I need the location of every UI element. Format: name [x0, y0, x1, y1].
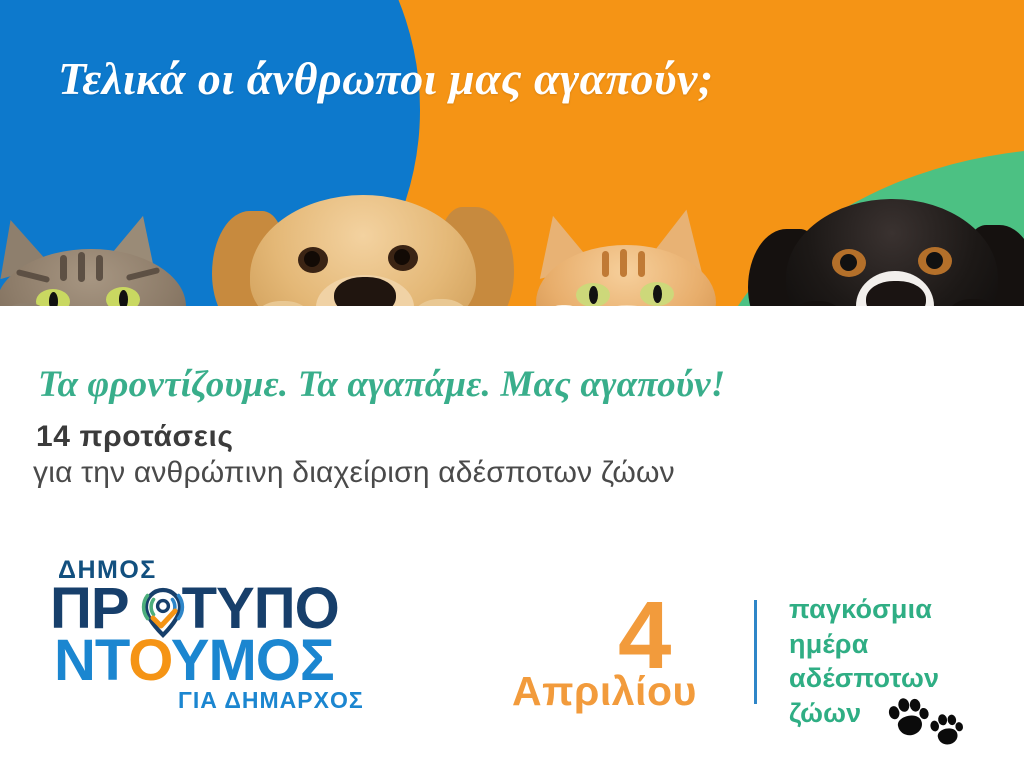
dog-pupil-left — [304, 251, 320, 267]
vertical-divider — [754, 600, 757, 704]
bwdog-pupil-right — [926, 252, 943, 269]
ginger-stripe — [602, 251, 609, 277]
proposals-count-text: 14 προτάσεις — [36, 420, 234, 454]
world-day-line-1: παγκόσμια — [789, 592, 939, 627]
paw-prints-icon — [884, 698, 974, 750]
green-slogan-text: Τα φροντίζουμε. Τα αγαπάμε. Μας αγαπούν! — [38, 363, 725, 406]
world-day-line-3: αδέσποτων — [789, 661, 939, 696]
poster-canvas: Τελικά οι άνθρωποι μας αγαπούν; — [0, 0, 1024, 758]
logo-ntoumos-part-b: ΥΜΟΣ — [171, 628, 334, 693]
proposals-description-text: για την ανθρώπινη διαχείριση αδέσποτων ζ… — [33, 456, 675, 490]
campaign-logo[interactable]: ΔΗΜΟΣ ΠΡΤΥΠΟ ΝΤΟΥΜΟΣ ΓΙΑ ΔΗΜΑΡΧΟΣ — [30, 556, 390, 716]
dog-pupil-right — [394, 249, 410, 265]
headline-text: Τελικά οι άνθρωποι μας αγαπούν; — [58, 52, 988, 105]
ginger-stripe — [638, 251, 645, 277]
date-month-text: Απριλίου — [512, 668, 697, 715]
bwdog-pupil-left — [840, 254, 857, 271]
logo-subtitle-text: ΓΙΑ ΔΗΜΑΡΧΟΣ — [178, 687, 364, 714]
ginger-pupil-left — [589, 286, 598, 304]
world-day-line-2: ημέρα — [789, 627, 939, 662]
ginger-pupil-right — [653, 285, 662, 303]
logo-ntoumos-text: ΝΤΟΥΜΟΣ — [54, 632, 334, 690]
cat-stripe — [96, 255, 103, 281]
cat-stripe — [78, 252, 85, 282]
ginger-stripe — [620, 249, 627, 277]
logo-ntoumos-part-a: ΝΤ — [54, 628, 128, 693]
cat-stripe — [60, 255, 67, 281]
location-pin-check-icon — [134, 583, 192, 641]
white-ledge — [0, 306, 1024, 350]
